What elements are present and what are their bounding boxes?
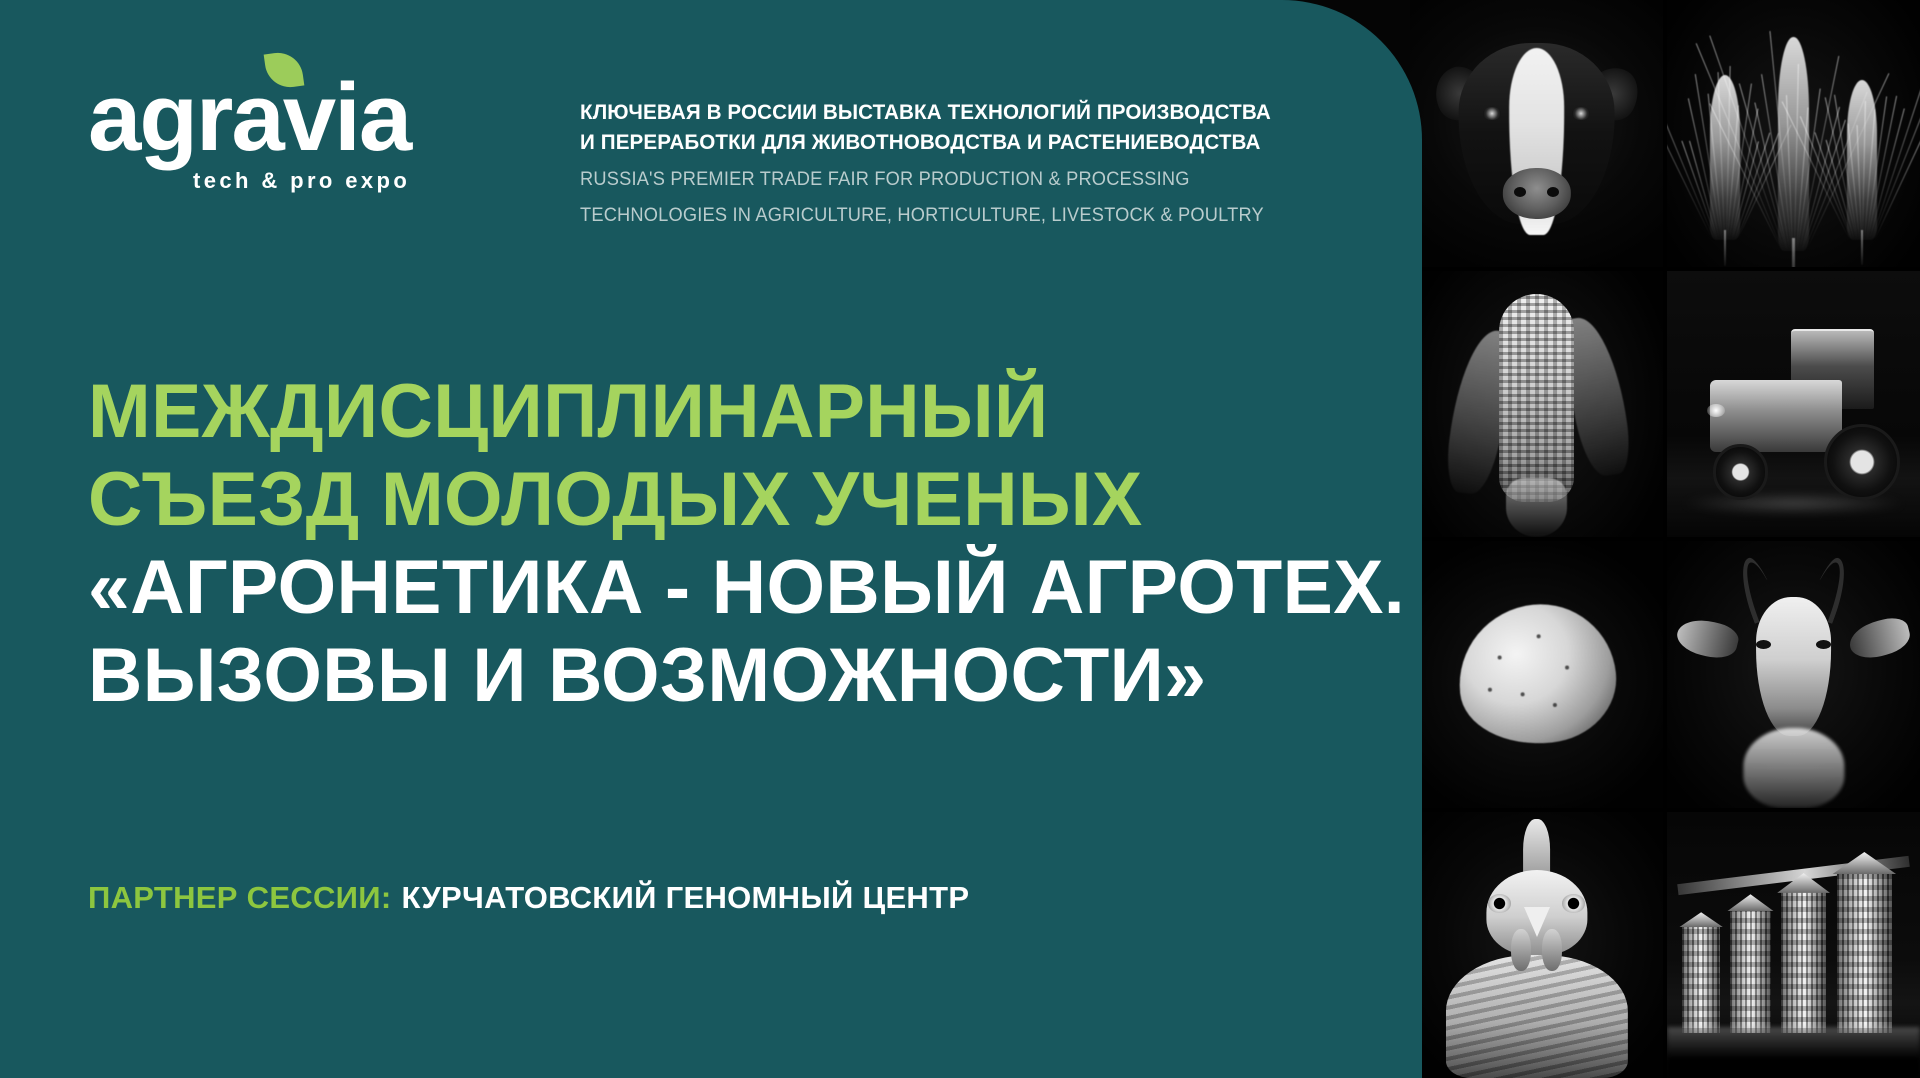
- photo-cell-corn: [1410, 271, 1663, 538]
- wheat-photo: [1667, 0, 1920, 267]
- event-banner: agravia tech & pro expo КЛЮЧЕВАЯ В РОССИ…: [0, 0, 1920, 1078]
- photo-cell-chicken: [1410, 812, 1663, 1078]
- photo-cell-silos: [1667, 812, 1920, 1078]
- partner-label: ПАРТНЕР СЕССИИ:: [88, 880, 391, 915]
- goat-photo: [1667, 541, 1920, 808]
- photo-cell-potato: [1410, 541, 1663, 808]
- event-headline: МЕЖДИСЦИПЛИНАРНЫЙ СЪЕЗД МОЛОДЫХ УЧЕНЫХ «…: [88, 368, 1268, 721]
- photo-grid: [1410, 0, 1920, 1078]
- tagline-ru-line1: КЛЮЧЕВАЯ В РОССИИ ВЫСТАВКА ТЕХНОЛОГИЙ ПР…: [580, 98, 1319, 128]
- headline-line-4: ВЫЗОВЫ И ВОЗМОЖНОСТИ»: [88, 632, 1256, 720]
- tagline-block: КЛЮЧЕВАЯ В РОССИИ ВЫСТАВКА ТЕХНОЛОГИЙ ПР…: [580, 98, 1350, 229]
- photo-cell-tractor: [1667, 271, 1920, 538]
- headline-line-3: «АГРОНЕТИКА - НОВЫЙ АГРОТЕХ.: [88, 544, 1256, 632]
- cow-photo: [1410, 0, 1663, 267]
- logo-wordmark: agravia: [88, 72, 410, 164]
- tagline-en-line1: RUSSIA'S PREMIER TRADE FAIR FOR PRODUCTI…: [580, 167, 1319, 193]
- logo-subline: tech & pro expo: [88, 168, 410, 194]
- agravia-logo[interactable]: agravia tech & pro expo: [88, 72, 410, 194]
- partner-name: КУРЧАТОВСКИЙ ГЕНОМНЫЙ ЦЕНТР: [401, 880, 969, 915]
- tagline-ru-line2: И ПЕРЕРАБОТКИ ДЛЯ ЖИВОТНОВОДСТВА И РАСТЕ…: [580, 128, 1319, 158]
- chicken-photo: [1410, 812, 1663, 1078]
- photo-cell-wheat: [1667, 0, 1920, 267]
- photo-cell-goat: [1667, 541, 1920, 808]
- corn-photo: [1410, 271, 1663, 538]
- photo-cell-cow: [1410, 0, 1663, 267]
- session-partner: ПАРТНЕР СЕССИИ:КУРЧАТОВСКИЙ ГЕНОМНЫЙ ЦЕН…: [88, 880, 969, 916]
- potato-photo: [1410, 541, 1663, 808]
- tractor-photo: [1667, 271, 1920, 538]
- headline-line-2: СЪЕЗД МОЛОДЫХ УЧЕНЫХ: [88, 456, 1256, 544]
- headline-line-1: МЕЖДИСЦИПЛИНАРНЫЙ: [88, 368, 1256, 456]
- tagline-en-line2: TECHNOLOGIES IN AGRICULTURE, HORTICULTUR…: [580, 203, 1319, 229]
- grain-silos-photo: [1667, 812, 1920, 1078]
